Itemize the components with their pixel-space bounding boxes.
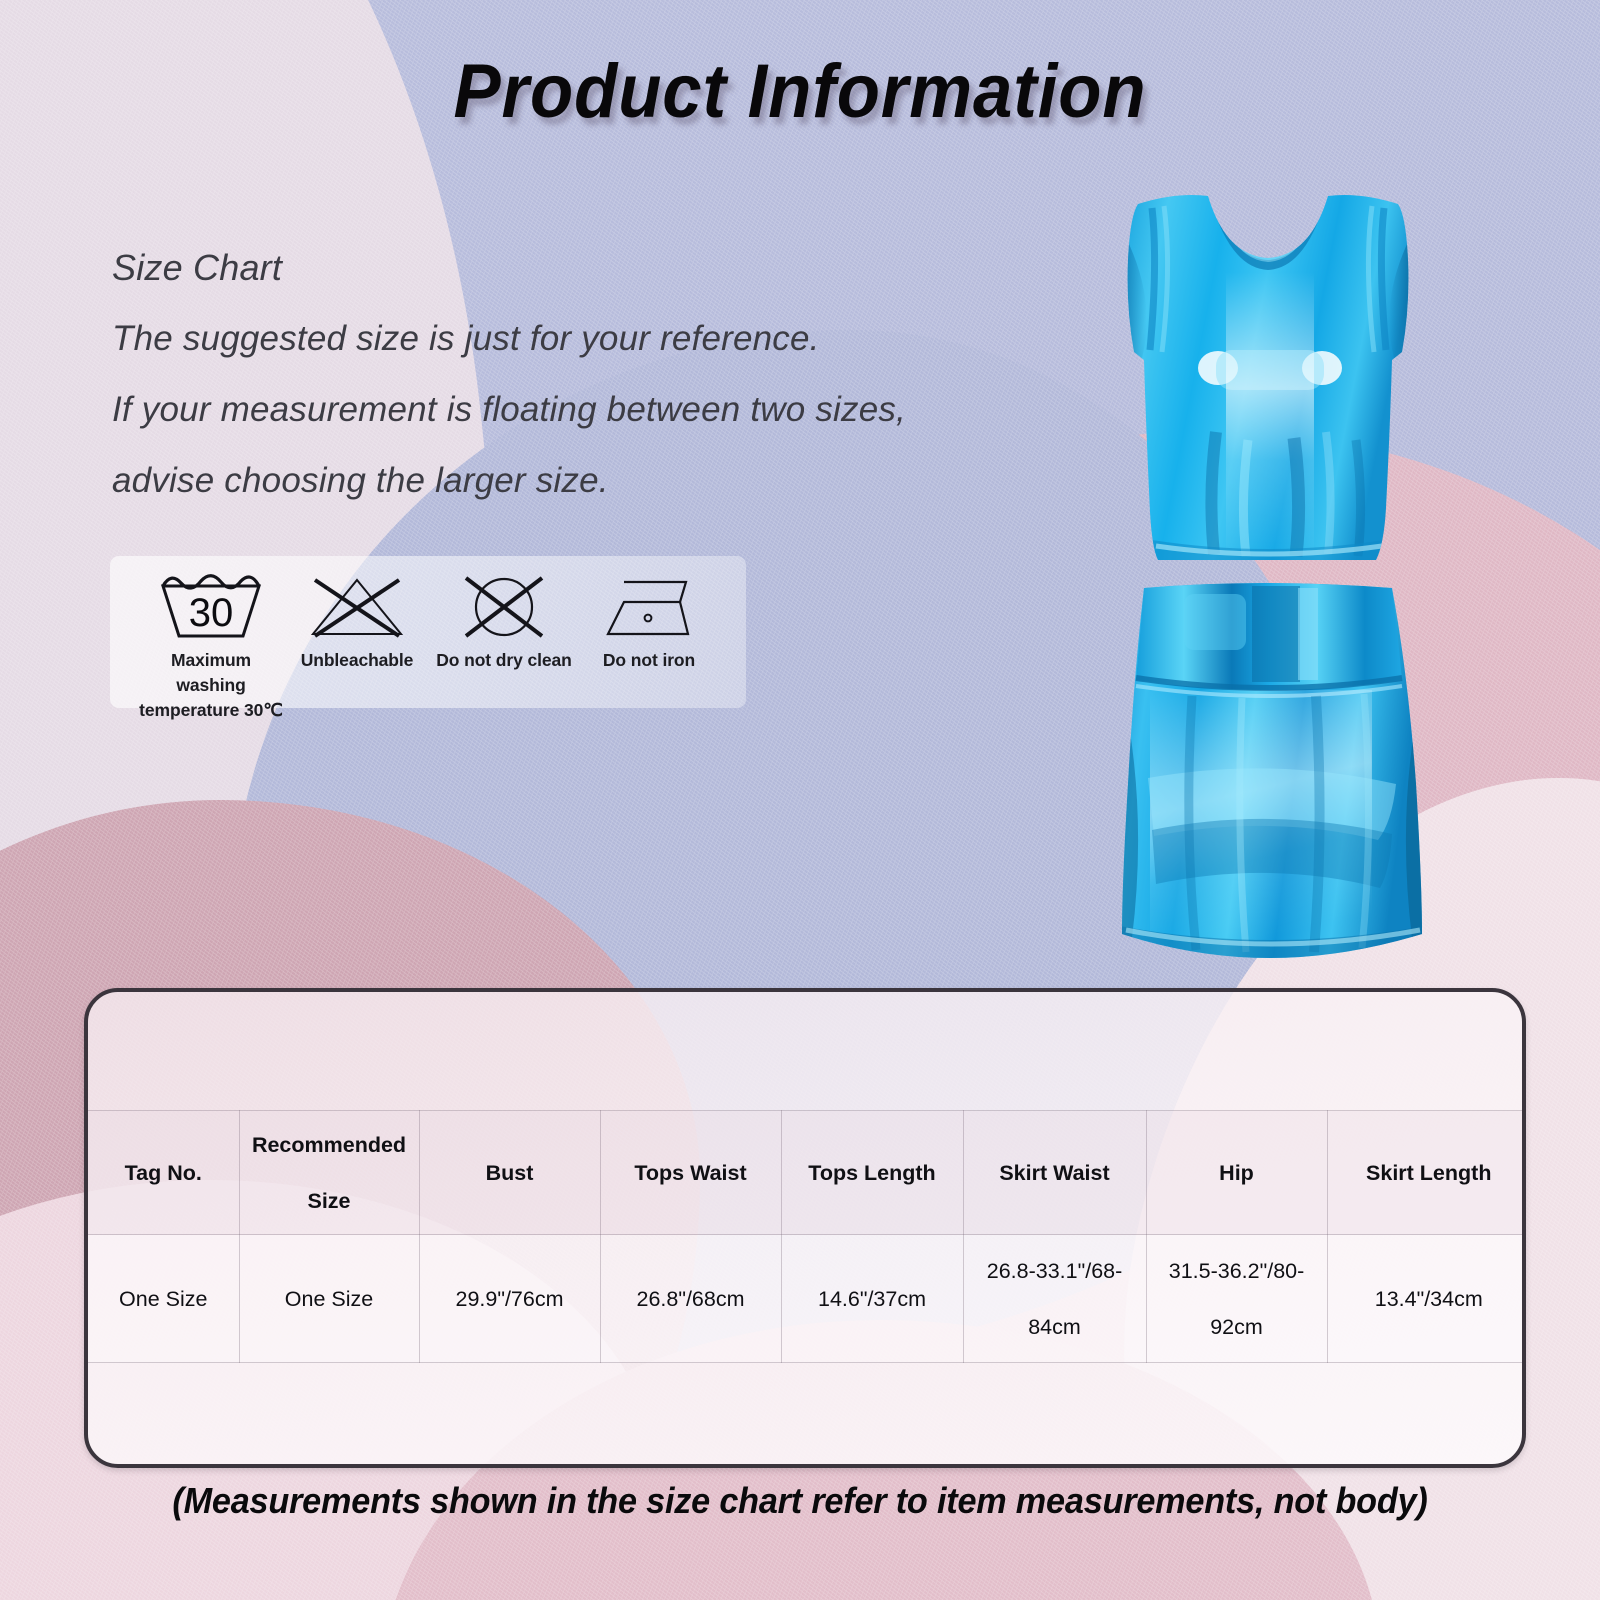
care-item-iron: Do not iron: [584, 572, 714, 673]
page-title: Product Information: [56, 48, 1544, 135]
svg-text:30: 30: [189, 591, 234, 635]
size-chart-intro: Size Chart The suggested size is just fo…: [112, 232, 1072, 516]
product-images: [1080, 182, 1500, 972]
size-chart-note-line-2: If your measurement is floating between …: [112, 374, 1072, 445]
care-item-dry-clean: Do not dry clean: [428, 572, 580, 673]
column-header-recommended-size: Recommended Size: [239, 1111, 419, 1235]
wash-tub-30-icon: 30: [155, 572, 267, 640]
column-header-skirt-waist: Skirt Waist: [963, 1111, 1146, 1235]
care-label-bleach: Unbleachable: [301, 648, 414, 673]
column-header-hip: Hip: [1146, 1111, 1327, 1235]
care-item-bleach: Unbleachable: [290, 572, 424, 673]
size-chart-note-line-1: The suggested size is just for your refe…: [112, 303, 1072, 374]
table-header-row: Tag No. Recommended Size Bust Tops Waist…: [88, 1111, 1526, 1235]
table-row: One Size One Size 29.9"/76cm 26.8"/68cm …: [88, 1235, 1526, 1363]
size-chart-note-line-3: advise choosing the larger size.: [112, 445, 1072, 516]
cell-skirt-length: 13.4"/34cm: [1327, 1235, 1526, 1363]
cell-bust: 29.9"/76cm: [419, 1235, 600, 1363]
do-not-bleach-triangle-icon: [305, 572, 409, 640]
cell-hip: 31.5-36.2"/80-92cm: [1146, 1235, 1327, 1363]
column-header-tops-length: Tops Length: [781, 1111, 963, 1235]
column-header-skirt-length: Skirt Length: [1327, 1111, 1526, 1235]
size-chart-heading: Size Chart: [112, 232, 1072, 303]
column-header-tops-waist: Tops Waist: [600, 1111, 781, 1235]
measurements-footnote: (Measurements shown in the size chart re…: [40, 1480, 1560, 1522]
size-chart-table-panel: Tag No. Recommended Size Bust Tops Waist…: [84, 988, 1526, 1468]
cell-skirt-waist: 26.8-33.1"/68-84cm: [963, 1235, 1146, 1363]
care-label-dry-clean: Do not dry clean: [436, 648, 572, 673]
size-chart-table: Tag No. Recommended Size Bust Tops Waist…: [88, 1110, 1526, 1363]
cell-tops-length: 14.6"/37cm: [781, 1235, 963, 1363]
care-label-iron: Do not iron: [603, 648, 695, 673]
metallic-tank-top-image: [1098, 182, 1438, 574]
care-label-washing: Maximum washing temperature 30℃: [136, 648, 286, 723]
cell-recommended-size: One Size: [239, 1235, 419, 1363]
column-header-bust: Bust: [419, 1111, 600, 1235]
do-not-dry-clean-circle-icon: [456, 572, 552, 640]
care-item-washing: 30 Maximum washing temperature 30℃: [136, 572, 286, 723]
do-not-iron-icon: [600, 572, 698, 640]
care-instructions-panel: 30 Maximum washing temperature 30℃ Unble…: [110, 556, 746, 708]
cell-tops-waist: 26.8"/68cm: [600, 1235, 781, 1363]
cell-tag-no: One Size: [88, 1235, 239, 1363]
metallic-mini-skirt-image: [1092, 578, 1452, 964]
column-header-tag-no: Tag No.: [88, 1111, 239, 1235]
